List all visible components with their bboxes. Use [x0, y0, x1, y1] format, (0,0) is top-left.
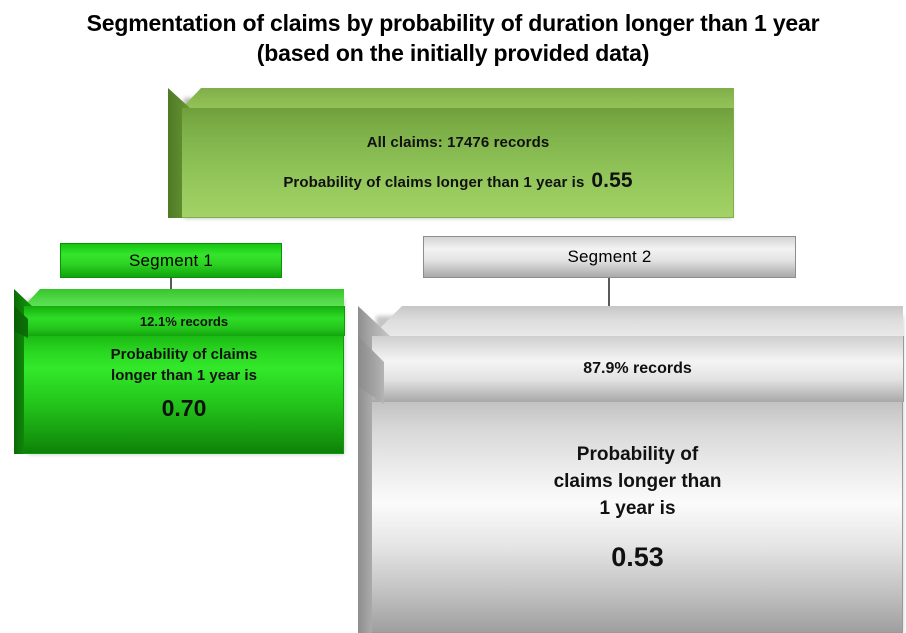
segment-2-top-face: [372, 306, 903, 336]
all-claims-text: All claims: 17476 records Probability of…: [182, 108, 734, 218]
segment-2-text: Probability of claims longer than 1 year…: [372, 402, 903, 612]
all-claims-probability-row: Probability of claims longer than 1 year…: [283, 169, 632, 193]
segment-1-label[interactable]: Segment 1: [60, 243, 282, 278]
segment-2-records-text: 87.9% records: [583, 360, 692, 378]
page-title: Segmentation of claims by probability of…: [0, 8, 906, 68]
all-claims-records-label: All claims: 17476 records: [367, 134, 550, 151]
page-title-line-1: Segmentation of claims by probability of…: [0, 8, 906, 38]
all-claims-probability-value: 0.55: [591, 169, 632, 192]
segment-1-records-text: 12.1% records: [140, 314, 228, 329]
segment-1-probability-value: 0.70: [162, 395, 207, 422]
segment-2-probability-line-1: Probability of: [577, 441, 698, 468]
segment-2-node[interactable]: 87.9% records Probability of claims long…: [358, 306, 903, 633]
segment-1-probability-line-1: Probability of claims: [111, 344, 258, 365]
segment-2-probability-line-3: 1 year is: [599, 495, 675, 522]
segment-2-probability-line-2: claims longer than: [554, 468, 722, 495]
page-title-line-2: (based on the initially provided data): [0, 38, 906, 68]
segment-2-records-bar: 87.9% records: [372, 336, 904, 402]
all-claims-probability-label: Probability of claims longer than 1 year…: [283, 174, 584, 191]
segment-1-node[interactable]: 12.1% records Probability of claims long…: [14, 289, 344, 454]
all-claims-top-face: [182, 88, 734, 108]
segment-2-label-text: Segment 2: [567, 247, 651, 267]
all-claims-node[interactable]: All claims: 17476 records Probability of…: [168, 88, 734, 218]
segment-1-text: Probability of claims longer than 1 year…: [24, 336, 344, 431]
segment-2-label[interactable]: Segment 2: [423, 236, 796, 278]
segment-1-label-text: Segment 1: [129, 251, 213, 271]
segment-2-probability-value: 0.53: [611, 542, 664, 573]
segment-1-top-face: [24, 289, 344, 306]
segment-1-records-bar: 12.1% records: [24, 306, 345, 336]
segment-1-probability-line-2: longer than 1 year is: [111, 365, 257, 386]
segment-2-connector-line: [608, 278, 610, 308]
